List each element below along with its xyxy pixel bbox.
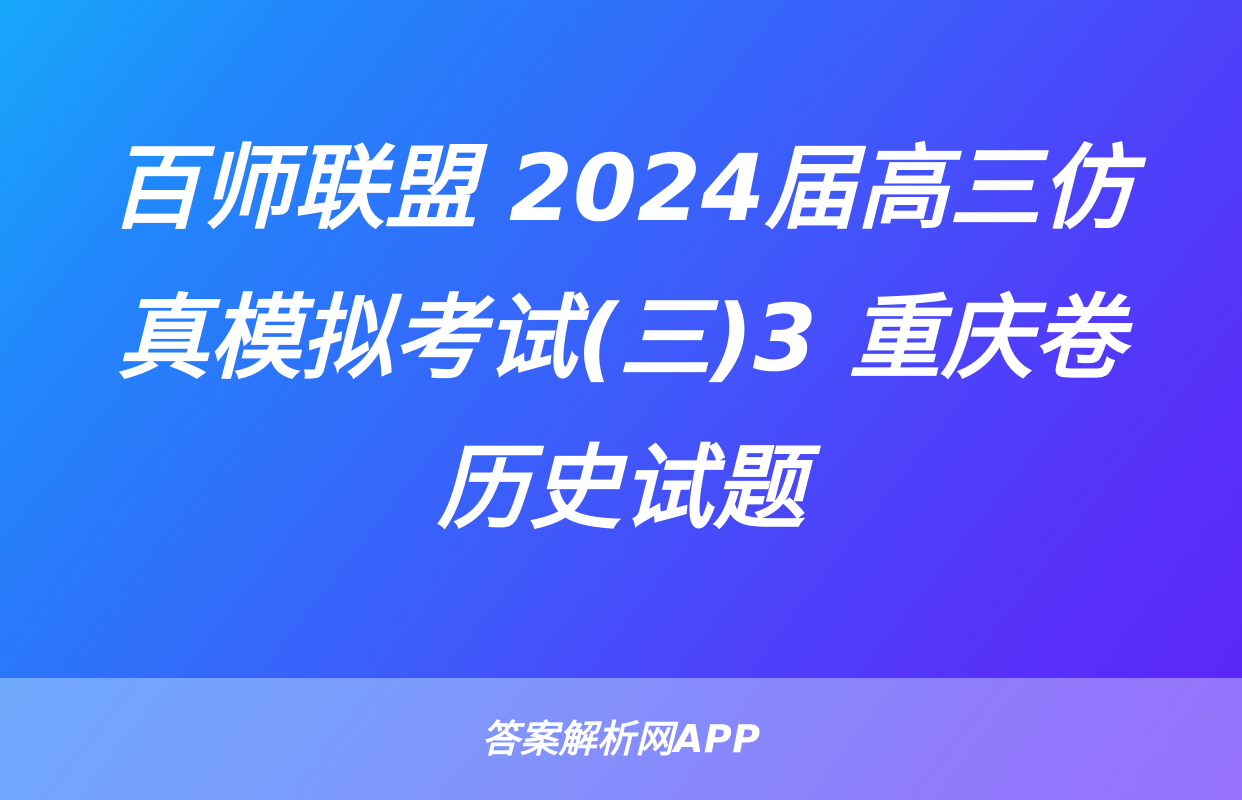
- app-watermark-label: 答案解析网APP: [481, 717, 760, 761]
- app-watermark-bar: 答案解析网APP: [0, 678, 1242, 800]
- page-title: 百师联盟 2024届高三仿真模拟考试(三)3 重庆卷历史试题: [76, 114, 1166, 564]
- exam-cover-card: 百师联盟 2024届高三仿真模拟考试(三)3 重庆卷历史试题 答案解析网APP: [0, 0, 1242, 800]
- cover-hero-banner: 百师联盟 2024届高三仿真模拟考试(三)3 重庆卷历史试题: [0, 0, 1242, 678]
